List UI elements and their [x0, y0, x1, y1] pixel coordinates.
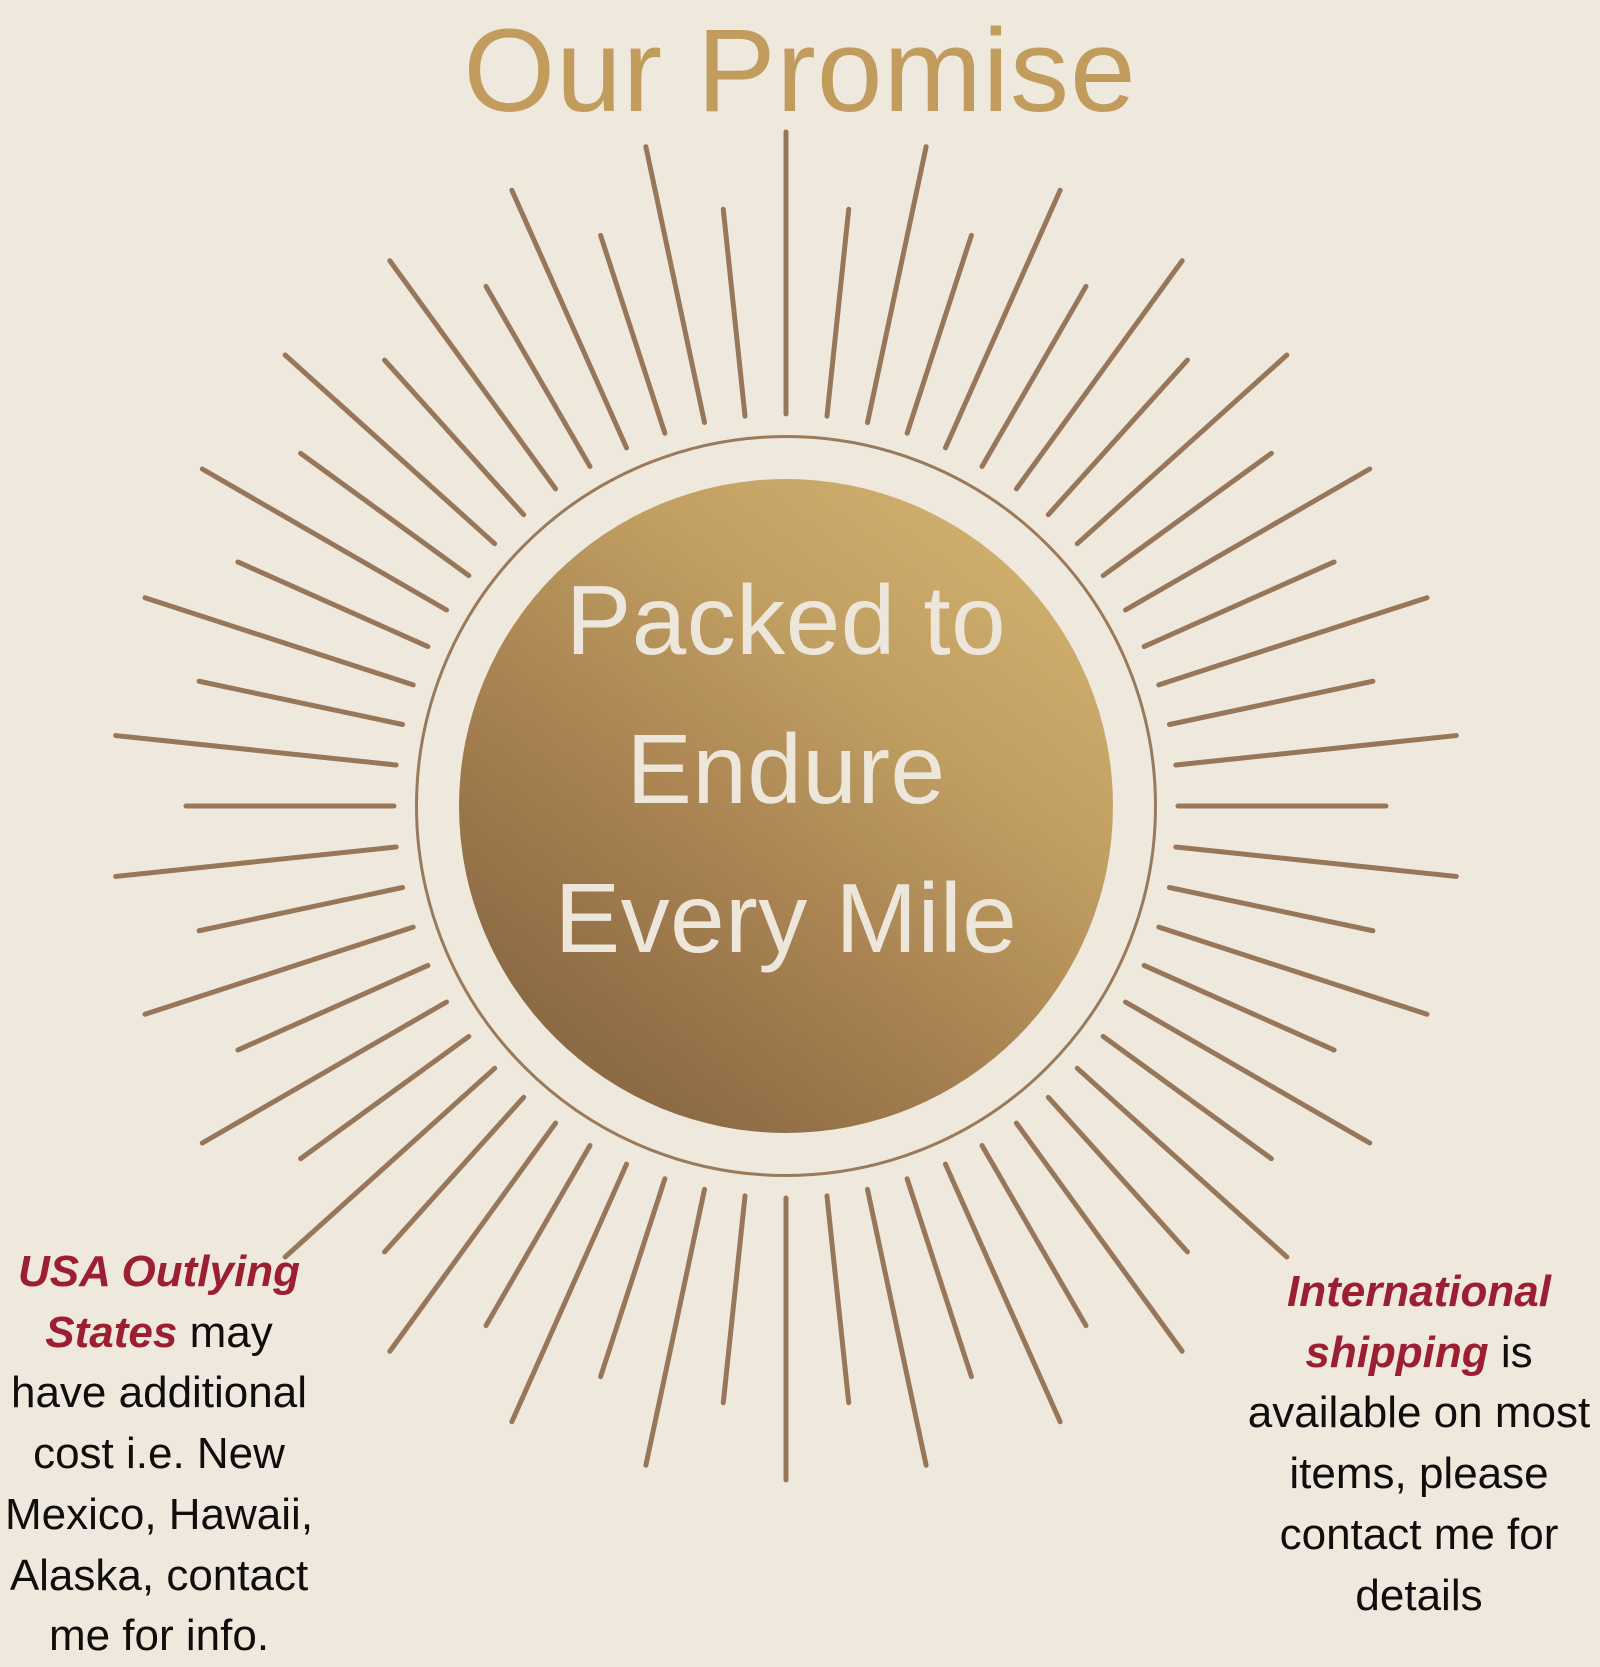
badge-text: Packed to Endure Every Mile	[466, 546, 1106, 993]
sunburst-ray	[1159, 927, 1427, 1014]
sunburst-ray	[601, 235, 665, 433]
sunburst-ray	[512, 1164, 627, 1422]
sunburst-ray	[116, 736, 396, 765]
sunburst-ray	[116, 847, 396, 876]
badge-line-2: Endure	[466, 695, 1106, 844]
sunburst-ray	[202, 469, 446, 610]
international-shipping-note: International shipping is available on m…	[1244, 1262, 1594, 1626]
sunburst-ray	[1169, 681, 1372, 724]
sunburst-ray	[945, 190, 1060, 448]
sunburst-ray	[285, 1068, 495, 1257]
sunburst-ray	[827, 1196, 849, 1403]
sunburst-ray	[199, 681, 402, 724]
sunburst-ray	[1176, 736, 1456, 765]
sunburst-ray	[1169, 888, 1372, 931]
sunburst-ray	[907, 235, 971, 433]
sunburst-ray	[982, 286, 1086, 466]
sunburst-ray	[646, 147, 705, 423]
sunburst-ray	[723, 209, 745, 416]
promise-graphic: Our Promise Packed to Endure Every Mile …	[0, 0, 1600, 1600]
sunburst-ray	[202, 1002, 446, 1143]
sunburst-ray	[1159, 598, 1427, 685]
sunburst-ray	[145, 927, 413, 1014]
sunburst-ray	[646, 1189, 705, 1465]
sunburst-ray	[1103, 453, 1271, 575]
sunburst-ray	[301, 1036, 469, 1158]
sunburst-ray	[601, 1179, 665, 1377]
sunburst-ray	[1077, 355, 1287, 544]
sunburst-ray	[1103, 1036, 1271, 1158]
sunburst-ray	[1016, 1123, 1182, 1351]
sunburst-ray	[1048, 360, 1187, 515]
sunburst-ray	[1125, 469, 1369, 610]
page-title: Our Promise	[0, 10, 1600, 134]
sunburst-ray	[385, 360, 524, 515]
usa-outlying-states-note: USA Outlying States may have additional …	[0, 1242, 318, 1667]
sunburst-ray	[982, 1145, 1086, 1325]
sunburst-ray	[512, 190, 627, 448]
sunburst-ray	[1176, 847, 1456, 876]
sunburst-ray	[1125, 1002, 1369, 1143]
sunburst-ray	[301, 453, 469, 575]
sunburst-ray	[945, 1164, 1060, 1422]
sunburst-ray	[868, 147, 927, 423]
sunburst-ray	[238, 562, 428, 647]
sunburst-ray	[285, 355, 495, 544]
sunburst-ray	[1077, 1068, 1287, 1257]
sunburst-ray	[390, 261, 556, 489]
sunburst-ray	[199, 888, 402, 931]
sunburst-ray	[827, 209, 849, 416]
sunburst-ray	[1016, 261, 1182, 489]
sunburst-ray	[145, 598, 413, 685]
usa-outlying-states-body: may have additional cost i.e. New Mexico…	[5, 1308, 313, 1661]
sunburst-ray	[238, 965, 428, 1050]
badge-line-1: Packed to	[466, 546, 1106, 695]
sunburst-ray	[868, 1189, 927, 1465]
sunburst-ray	[723, 1196, 745, 1403]
sunburst-ray	[385, 1097, 524, 1252]
sunburst-ray	[1144, 965, 1334, 1050]
sunburst-ray	[907, 1179, 971, 1377]
sunburst-ray	[486, 1145, 590, 1325]
badge-line-3: Every Mile	[466, 844, 1106, 993]
sunburst-ray	[1144, 562, 1334, 647]
sunburst-ray	[486, 286, 590, 466]
sunburst-ray	[1048, 1097, 1187, 1252]
sunburst-ray	[390, 1123, 556, 1351]
